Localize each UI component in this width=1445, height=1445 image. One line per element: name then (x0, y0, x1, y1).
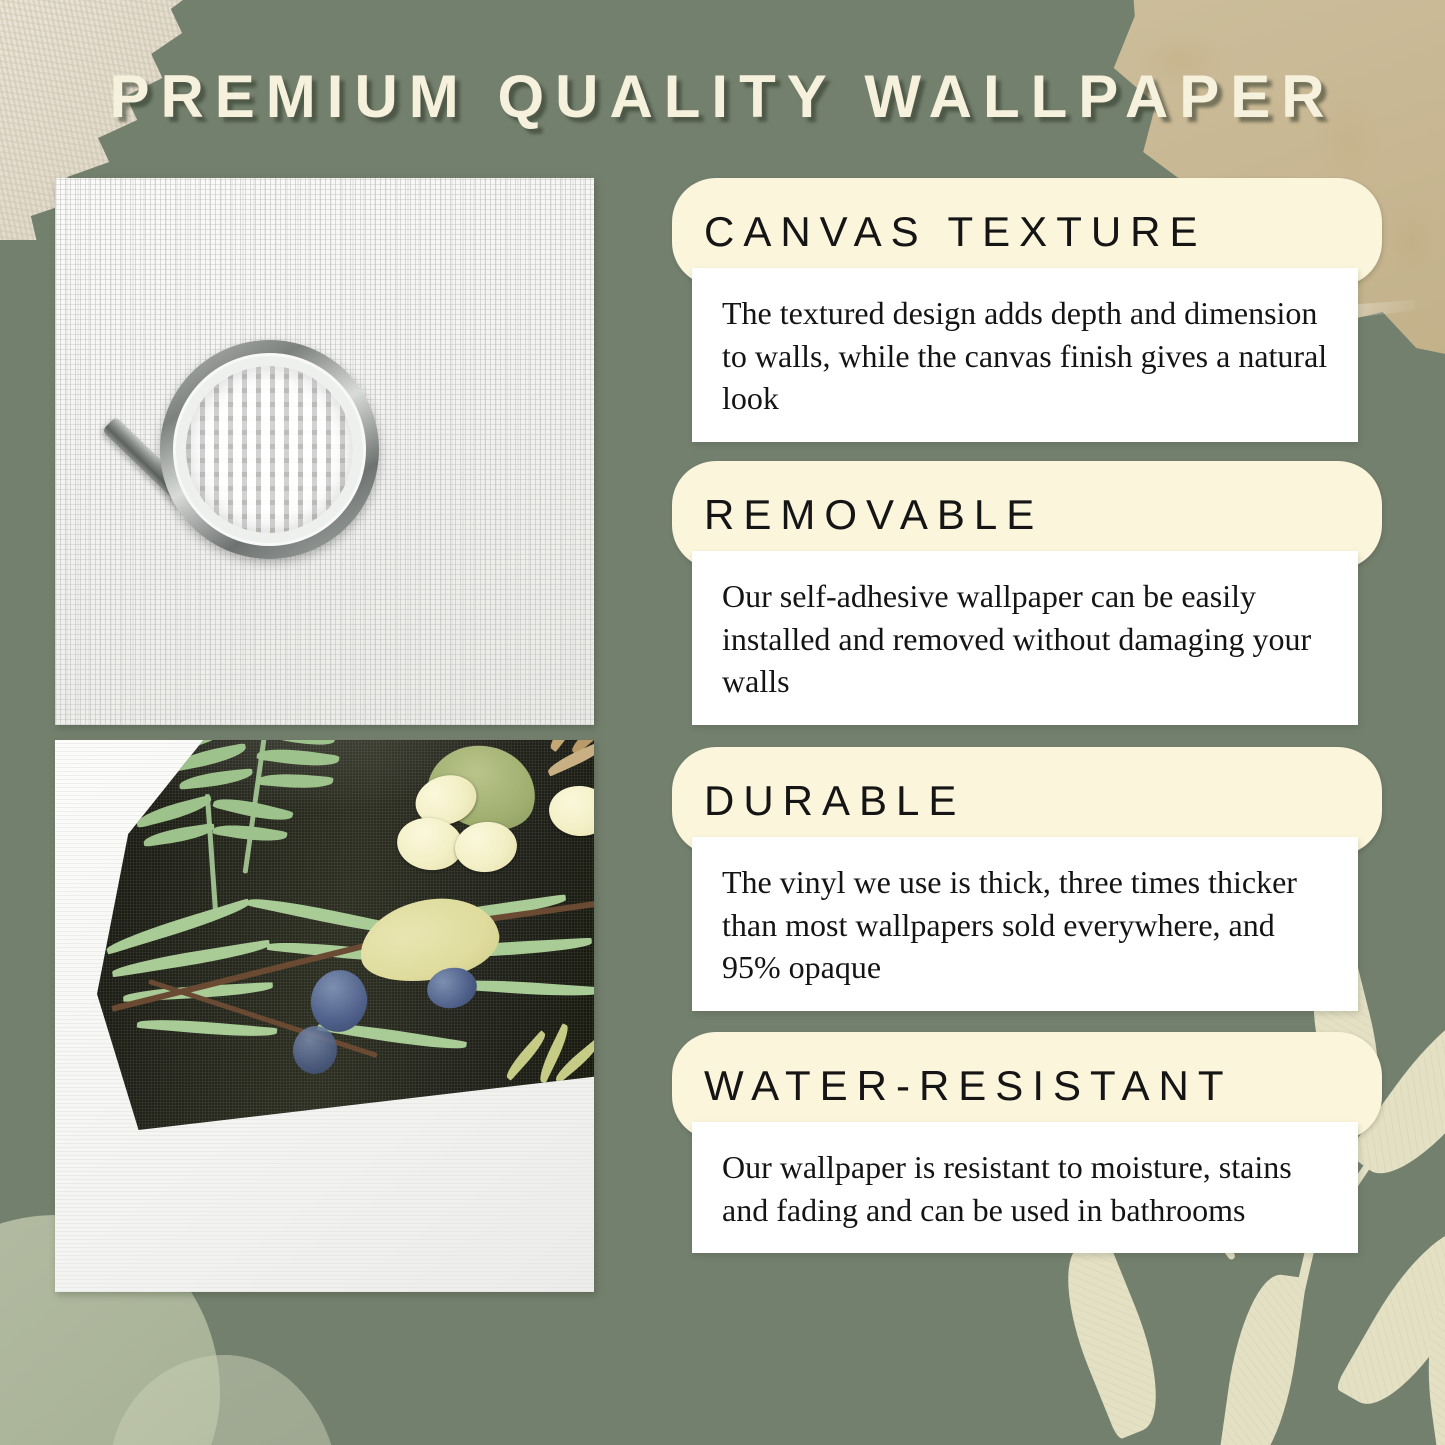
feature-heading-text: WATER-RESISTANT (704, 1062, 1233, 1110)
feature-body-panel: Our wallpaper is resistant to moisture, … (692, 1122, 1358, 1253)
feature-body-text: Our wallpaper is resistant to moisture, … (722, 1146, 1330, 1231)
leaf-shape-6 (1416, 1291, 1445, 1445)
feature-card-durable: DURABLE The vinyl we use is thick, three… (672, 747, 1382, 1011)
wallpaper-roll-photo (55, 740, 594, 1292)
leaf-shape-1 (1045, 1235, 1179, 1441)
feature-body-panel: The vinyl we use is thick, three times t… (692, 837, 1358, 1011)
feature-card-removable: REMOVABLE Our self-adhesive wallpaper ca… (672, 461, 1382, 725)
feature-body-text: The vinyl we use is thick, three times t… (722, 861, 1330, 989)
rolled-wallpaper (97, 740, 594, 1130)
feature-body-panel: Our self-adhesive wallpaper can be easil… (692, 551, 1358, 725)
feature-heading-text: DURABLE (704, 777, 965, 825)
feature-body-panel: The textured design adds depth and dimen… (692, 268, 1358, 442)
magnifier-lens (186, 366, 353, 533)
feature-body-text: The textured design adds depth and dimen… (722, 292, 1330, 420)
page-title: PREMIUM QUALITY WALLPAPER (0, 62, 1445, 131)
feature-card-water-resistant: WATER-RESISTANT Our wallpaper is resista… (672, 1032, 1382, 1253)
feature-body-text: Our self-adhesive wallpaper can be easil… (722, 575, 1330, 703)
feature-heading-text: CANVAS TEXTURE (704, 208, 1207, 256)
magnifier-ring (160, 340, 379, 559)
canvas-texture-photo (55, 178, 594, 725)
feature-card-canvas-texture: CANVAS TEXTURE The textured design adds … (672, 178, 1382, 442)
infographic-canvas: PREMIUM QUALITY WALLPAPER (0, 0, 1445, 1445)
feature-heading-text: REMOVABLE (704, 491, 1043, 539)
leaf-shape-2 (1217, 1270, 1306, 1445)
sage-blob-decoration-secondary (110, 1355, 340, 1445)
